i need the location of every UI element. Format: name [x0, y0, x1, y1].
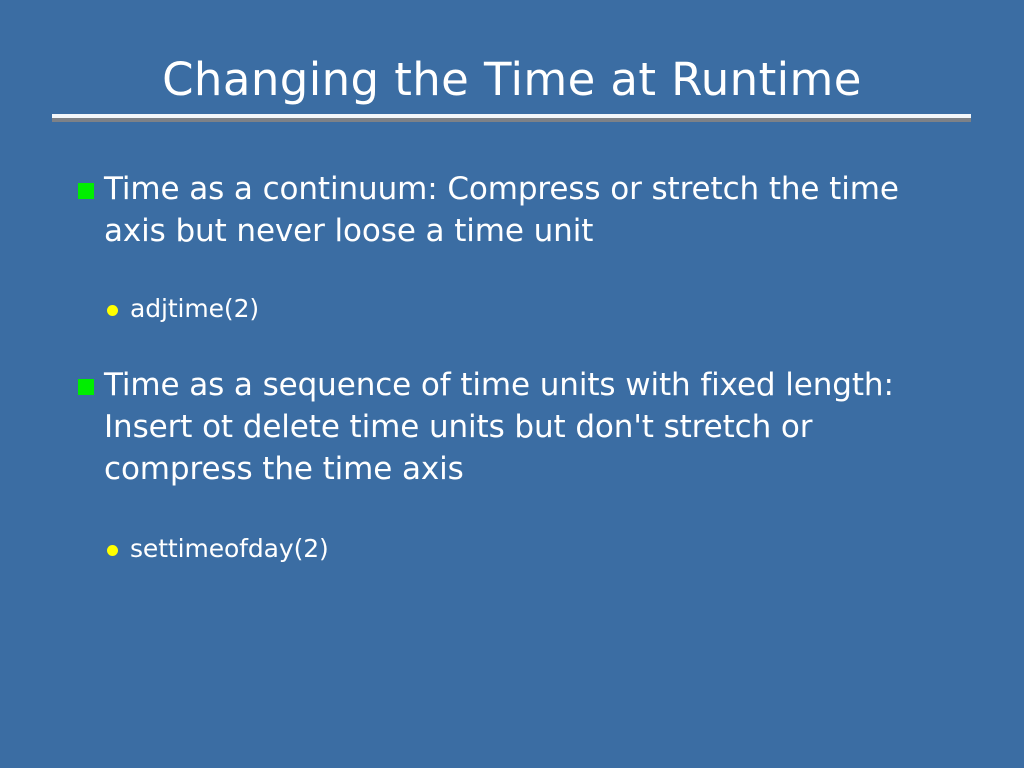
spacer [0, 490, 1024, 532]
title-divider-shadow [52, 118, 971, 122]
page-title: Changing the Time at Runtime [0, 52, 1024, 108]
title-divider [52, 114, 971, 122]
bullet-item-level2: adjtime(2) [0, 292, 1024, 326]
dot-bullet-icon [107, 305, 118, 316]
slide-body: Time as a continuum: Compress or stretch… [0, 168, 1024, 728]
slide-title-block: Changing the Time at Runtime [0, 52, 1024, 108]
presentation-slide: Changing the Time at Runtime Time as a c… [0, 0, 1024, 768]
bullet-item-level2: settimeofday(2) [0, 532, 1024, 566]
dot-bullet-icon [107, 545, 118, 556]
bullet-text: settimeofday(2) [130, 532, 964, 566]
bullet-text: Time as a sequence of time units with fi… [104, 364, 964, 490]
spacer [0, 252, 1024, 292]
square-bullet-icon [78, 379, 94, 395]
bullet-item-level1: Time as a continuum: Compress or stretch… [0, 168, 1024, 252]
spacer [0, 326, 1024, 364]
square-bullet-icon [78, 183, 94, 199]
bullet-text: adjtime(2) [130, 292, 964, 326]
bullet-text: Time as a continuum: Compress or stretch… [104, 168, 964, 252]
bullet-item-level1: Time as a sequence of time units with fi… [0, 364, 1024, 490]
